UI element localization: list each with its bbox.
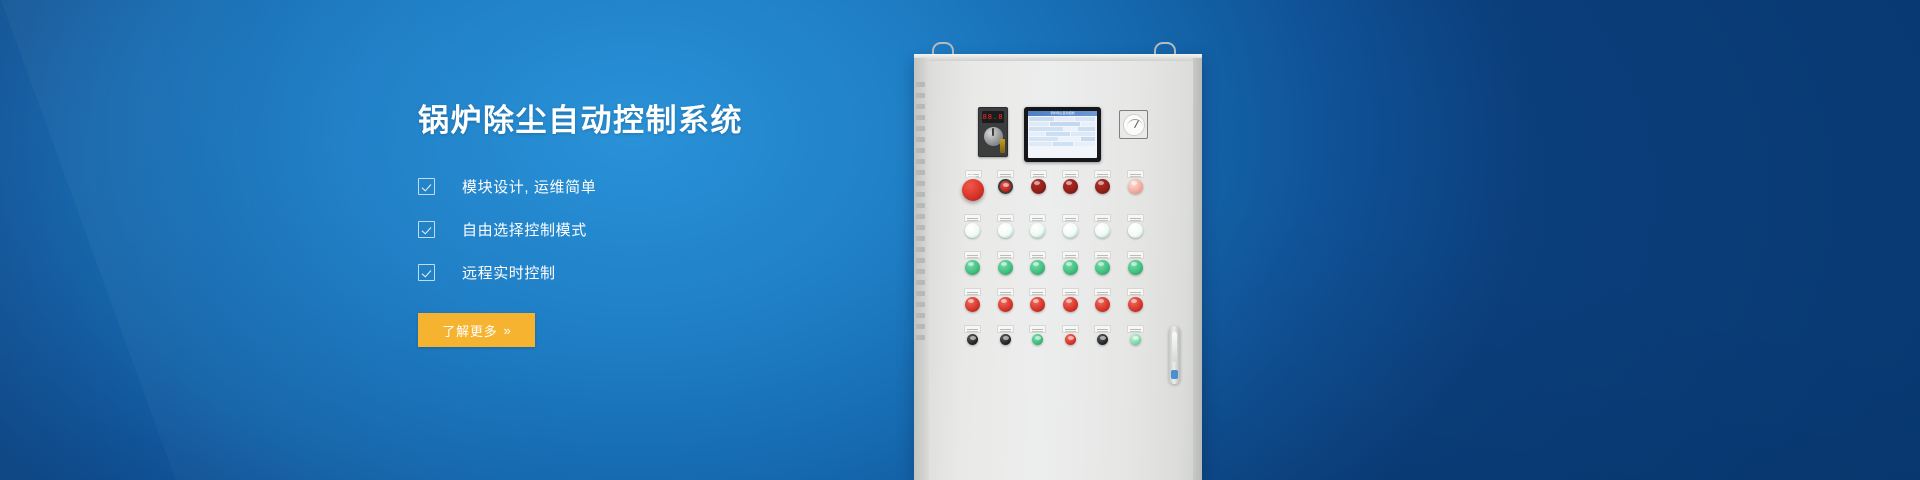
hmi-cell — [1029, 117, 1054, 121]
selector-switch-black[interactable] — [967, 334, 978, 345]
hinge — [916, 324, 925, 329]
hinge — [916, 82, 925, 87]
hinge — [916, 192, 925, 197]
panel-cell[interactable] — [1125, 170, 1146, 201]
panel-cell[interactable] — [1092, 251, 1114, 275]
label-plate — [997, 325, 1014, 333]
hmi-cell — [1053, 142, 1073, 146]
hinge — [916, 335, 925, 340]
panel-cell[interactable] — [1060, 288, 1082, 312]
feature-label: 模块设计, 运维简单 — [462, 176, 596, 197]
panel-cell[interactable] — [1092, 170, 1113, 201]
checkbox-icon — [418, 178, 435, 195]
gauge-face — [1123, 114, 1145, 136]
row-red-lamps — [962, 288, 1157, 312]
hmi-cell — [1029, 127, 1063, 131]
learn-more-button[interactable]: 了解更多 » — [418, 313, 535, 347]
panel-cell[interactable] — [1125, 251, 1147, 275]
control-cabinet: 88.8 锅炉除尘自动控制 — [914, 52, 1202, 480]
hinge — [916, 93, 925, 98]
hmi-cell — [1064, 127, 1077, 131]
push-button-dark-red[interactable] — [1095, 179, 1110, 194]
panel-cell[interactable] — [1125, 325, 1147, 345]
hinge — [916, 302, 925, 307]
hinge — [916, 214, 925, 219]
label-plate — [997, 214, 1014, 222]
panel-cell[interactable] — [1060, 214, 1082, 238]
hmi-cell — [1029, 132, 1045, 136]
learn-more-label: 了解更多 — [442, 321, 497, 340]
list-item: 自由选择控制模式 — [418, 213, 888, 246]
label-plate — [1030, 170, 1047, 178]
gauge-scale-arc — [1127, 119, 1143, 128]
indicator-lamp-green[interactable] — [1063, 260, 1078, 275]
panel-cell[interactable] — [1092, 214, 1114, 238]
label-plate — [1029, 251, 1046, 259]
list-item: 远程实时控制 — [418, 256, 888, 289]
panel-cell[interactable] — [1092, 325, 1114, 345]
hinge — [916, 115, 925, 120]
label-plate — [1062, 170, 1079, 178]
hero-banner: 锅炉除尘自动控制系统 模块设计, 运维简单 自由选择控制模式 远程实时控制 了解… — [0, 0, 1920, 480]
hmi-row — [1029, 142, 1096, 146]
row-emergency — [962, 170, 1157, 201]
frequency-inverter[interactable]: 88.8 — [978, 107, 1008, 157]
push-button-dark-red[interactable] — [1063, 179, 1078, 194]
hmi-cell — [1029, 142, 1052, 146]
hmi-cell — [1059, 137, 1079, 141]
hmi-cell — [1074, 142, 1095, 146]
push-button-red[interactable] — [998, 179, 1013, 194]
inverter-led-strip — [1000, 139, 1005, 153]
door-handle[interactable] — [1169, 326, 1180, 384]
indicator-lamp-red[interactable] — [1063, 297, 1078, 312]
inverter-digits: 88.8 — [983, 114, 1004, 121]
hmi-cell — [1075, 117, 1095, 121]
label-plate — [964, 251, 981, 259]
panel-cell[interactable] — [1060, 325, 1082, 345]
panel-cell[interactable] — [995, 325, 1017, 345]
label-plate — [1029, 214, 1046, 222]
selector-switch-black[interactable] — [1097, 334, 1108, 345]
row-green-lamps — [962, 251, 1157, 275]
indicator-lamp-green[interactable] — [1095, 260, 1110, 275]
label-plate — [964, 288, 981, 296]
hmi-row — [1029, 137, 1096, 141]
hinge — [916, 291, 925, 296]
label-plate — [1029, 288, 1046, 296]
panel-cell[interactable] — [962, 251, 984, 275]
panel-cell[interactable] — [1125, 214, 1147, 238]
feature-label: 自由选择控制模式 — [462, 219, 587, 240]
indicator-lamp-green[interactable] — [998, 260, 1013, 275]
hinge — [916, 280, 925, 285]
panel-cell[interactable] — [962, 325, 984, 345]
panel-cell[interactable] — [962, 288, 984, 312]
hinge — [916, 236, 925, 241]
analog-gauge — [1119, 110, 1148, 139]
selector-switch-red[interactable] — [1065, 334, 1076, 345]
indicator-lamp-red[interactable] — [1095, 297, 1110, 312]
hmi-cell — [1081, 137, 1096, 141]
hmi-cell — [1029, 137, 1058, 141]
hmi-data-rows — [1028, 116, 1097, 158]
label-plate — [1127, 251, 1144, 259]
selector-switch-black[interactable] — [1000, 334, 1011, 345]
hinge — [916, 181, 925, 186]
hinge — [916, 225, 925, 230]
panel-cell[interactable] — [995, 214, 1017, 238]
panel-cell[interactable] — [1027, 214, 1049, 238]
panel-cell[interactable] — [1027, 251, 1049, 275]
hinge — [916, 159, 925, 164]
label-plate — [1094, 214, 1111, 222]
indicator-lamp-white[interactable] — [965, 223, 980, 238]
indicator-lamp-white[interactable] — [1128, 223, 1143, 238]
indicator-lamp-red[interactable] — [998, 297, 1013, 312]
label-plate — [1062, 214, 1079, 222]
indicator-lamp-white[interactable] — [1095, 223, 1110, 238]
indicator-lamp-red[interactable] — [965, 297, 980, 312]
indicator-lamp-white[interactable] — [1030, 223, 1045, 238]
cabinet-top-edge — [914, 54, 1202, 61]
label-plate — [1127, 325, 1144, 333]
hmi-cell — [1050, 122, 1079, 126]
label-plate — [1127, 170, 1144, 178]
push-button-dark-red[interactable] — [1031, 179, 1046, 194]
cabinet-hinge-strip — [916, 82, 925, 342]
hmi-screen[interactable]: 锅炉除尘自动控制 — [1028, 111, 1097, 158]
panel-cell[interactable] — [1027, 325, 1049, 345]
cabinet-right-edge — [1193, 58, 1202, 480]
button-grid — [962, 170, 1157, 358]
panel-cell[interactable] — [995, 170, 1016, 201]
feature-label: 远程实时控制 — [462, 262, 556, 283]
indicator-lamp-white[interactable] — [1063, 223, 1078, 238]
hinge — [916, 258, 925, 263]
checkbox-icon — [418, 264, 435, 281]
indicator-lamp-green[interactable] — [1128, 260, 1143, 275]
selector-switch-light-green[interactable] — [1130, 334, 1141, 345]
hinge — [916, 148, 925, 153]
indicator-lamp-red[interactable] — [1030, 297, 1045, 312]
indicator-lamp-green[interactable] — [965, 260, 980, 275]
hinge — [916, 313, 925, 318]
panel-cell[interactable] — [1027, 288, 1049, 312]
hmi-cell — [1029, 122, 1049, 126]
label-plate — [964, 325, 981, 333]
row-selectors — [962, 325, 1157, 345]
page-title: 锅炉除尘自动控制系统 — [418, 104, 888, 138]
checkbox-icon — [418, 221, 435, 238]
list-item: 模块设计, 运维简单 — [418, 170, 888, 203]
label-plate — [1062, 288, 1079, 296]
panel-cell[interactable] — [1092, 288, 1114, 312]
hinge — [916, 137, 925, 142]
inverter-display: 88.8 — [982, 111, 1004, 123]
indicator-lamp-white[interactable] — [998, 223, 1013, 238]
hmi-row — [1029, 132, 1096, 136]
label-plate — [1127, 288, 1144, 296]
panel-cell[interactable] — [1027, 170, 1048, 201]
label-plate — [964, 214, 981, 222]
label-plate — [1094, 288, 1111, 296]
emergency-stop-button[interactable] — [962, 179, 984, 201]
label-plate — [997, 251, 1014, 259]
label-plate — [1062, 251, 1079, 259]
panel-cell[interactable] — [1060, 170, 1081, 201]
feature-list: 模块设计, 运维简单 自由选择控制模式 远程实时控制 — [418, 170, 888, 289]
hmi-row — [1029, 127, 1096, 131]
hinge — [916, 126, 925, 131]
label-plate — [997, 288, 1014, 296]
panel-cell[interactable] — [995, 288, 1017, 312]
hmi-cell — [1055, 117, 1074, 121]
panel-cell[interactable] — [962, 170, 984, 201]
hmi-row — [1029, 117, 1096, 121]
hinge — [916, 203, 925, 208]
indicator-lamp-pink[interactable] — [1128, 179, 1143, 194]
label-plate — [1062, 325, 1079, 333]
label-plate — [1029, 325, 1046, 333]
row-white-lamps — [962, 214, 1157, 238]
hmi-cell — [1078, 127, 1095, 131]
label-plate — [1094, 170, 1111, 178]
chevron-right-icon: » — [503, 323, 510, 338]
panel-cell[interactable] — [1125, 288, 1147, 312]
hmi-cell — [1071, 132, 1095, 136]
hinge — [916, 247, 925, 252]
label-plate — [1094, 325, 1111, 333]
hmi-cell — [1081, 122, 1096, 126]
selector-switch-green[interactable] — [1032, 334, 1043, 345]
indicator-lamp-red[interactable] — [1128, 297, 1143, 312]
panel-cell[interactable] — [1060, 251, 1082, 275]
hmi-row — [1029, 122, 1096, 126]
hero-copy: 锅炉除尘自动控制系统 模块设计, 运维简单 自由选择控制模式 远程实时控制 了解… — [418, 104, 888, 347]
hinge — [916, 104, 925, 109]
hinge — [916, 170, 925, 175]
hinge — [916, 269, 925, 274]
label-plate — [1127, 214, 1144, 222]
hmi-touchscreen[interactable]: 锅炉除尘自动控制 — [1024, 107, 1101, 162]
label-plate — [1094, 251, 1111, 259]
label-plate — [997, 170, 1014, 178]
panel-cell[interactable] — [962, 214, 984, 238]
indicator-lamp-green[interactable] — [1030, 260, 1045, 275]
panel-cell[interactable] — [995, 251, 1017, 275]
hmi-cell — [1046, 132, 1070, 136]
